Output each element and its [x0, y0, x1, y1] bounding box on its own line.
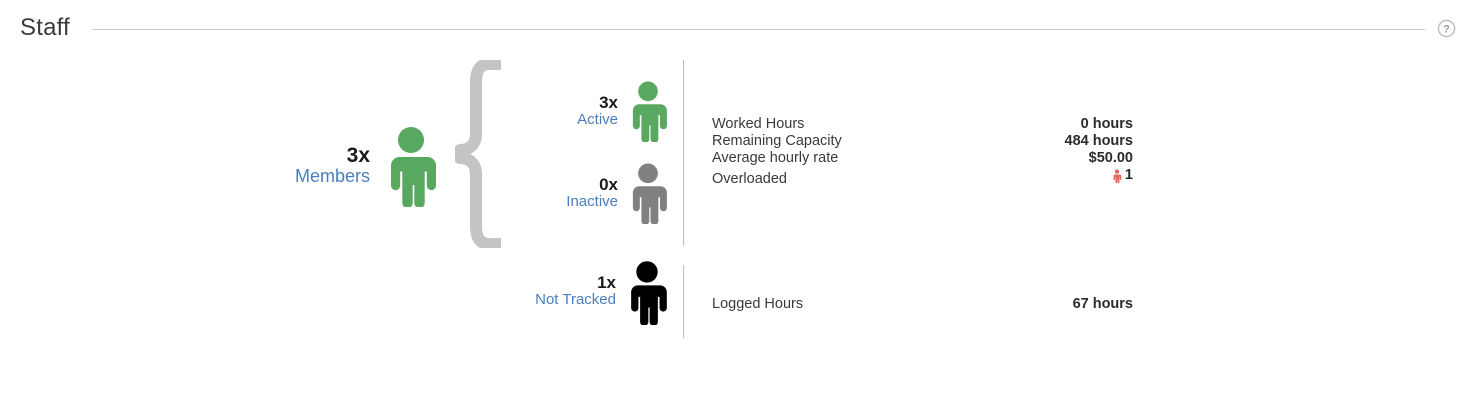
inactive-label[interactable]: Inactive	[566, 194, 618, 210]
person-icon-red	[1112, 169, 1122, 183]
active-count: 3x	[599, 94, 618, 112]
stat-row-average-hourly-rate: Average hourly rate $50.00	[712, 150, 1133, 167]
not-tracked-count: 1x	[597, 274, 616, 292]
stat-label: Logged Hours	[712, 296, 803, 313]
stat-value: 67 hours	[1073, 296, 1133, 313]
stat-row-overloaded: Overloaded 1	[712, 167, 1133, 188]
members-total-count: 3x	[347, 145, 370, 167]
header-divider	[92, 29, 1425, 30]
stats-list-logged: Logged Hours 67 hours	[712, 296, 1133, 313]
breakdown-row-inactive[interactable]: 0x Inactive	[520, 152, 670, 234]
person-icon-black	[624, 260, 670, 325]
person-icon-gray	[626, 162, 670, 224]
person-icon-green	[626, 80, 670, 142]
help-circle-icon[interactable]: ?	[1437, 19, 1456, 38]
stats-list-capacity: Worked Hours 0 hours Remaining Capacity …	[712, 116, 1133, 188]
stat-value-overloaded: 1	[1112, 167, 1133, 184]
members-total-block[interactable]: 3x Members	[230, 111, 440, 221]
stat-row-logged-hours: Logged Hours 67 hours	[712, 296, 1133, 313]
page-title: Staff	[20, 14, 70, 42]
person-icon-green	[382, 125, 440, 207]
active-label[interactable]: Active	[577, 112, 618, 128]
inactive-count: 0x	[599, 176, 618, 194]
stat-label: Overloaded	[712, 171, 787, 188]
stat-value: 0 hours	[1081, 116, 1133, 133]
members-breakdown-list: 3x Active 0x Inactive	[520, 70, 670, 234]
overloaded-count: 1	[1125, 167, 1133, 184]
stat-label: Remaining Capacity	[712, 133, 842, 150]
stat-value: $50.00	[1089, 150, 1133, 167]
svg-text:?: ?	[1443, 23, 1450, 35]
page-header: Staff ?	[0, 0, 1472, 56]
not-tracked-label[interactable]: Not Tracked	[535, 292, 616, 308]
stat-label: Worked Hours	[712, 116, 804, 133]
section-divider-top	[683, 60, 684, 246]
stat-row-worked-hours: Worked Hours 0 hours	[712, 116, 1133, 133]
stat-value: 484 hours	[1065, 133, 1134, 150]
members-total-label[interactable]: Members	[295, 167, 370, 186]
breakdown-row-active[interactable]: 3x Active	[520, 70, 670, 152]
stat-row-remaining-capacity: Remaining Capacity 484 hours	[712, 133, 1133, 150]
stat-label: Average hourly rate	[712, 150, 838, 167]
grouping-brace-icon	[455, 60, 513, 248]
breakdown-row-not-tracked[interactable]: 1x Not Tracked	[500, 256, 670, 328]
section-divider-bottom	[683, 265, 684, 338]
members-total-text: 3x Members	[295, 145, 370, 188]
staff-summary-panel: 3x Members 3x Active	[0, 56, 1472, 403]
